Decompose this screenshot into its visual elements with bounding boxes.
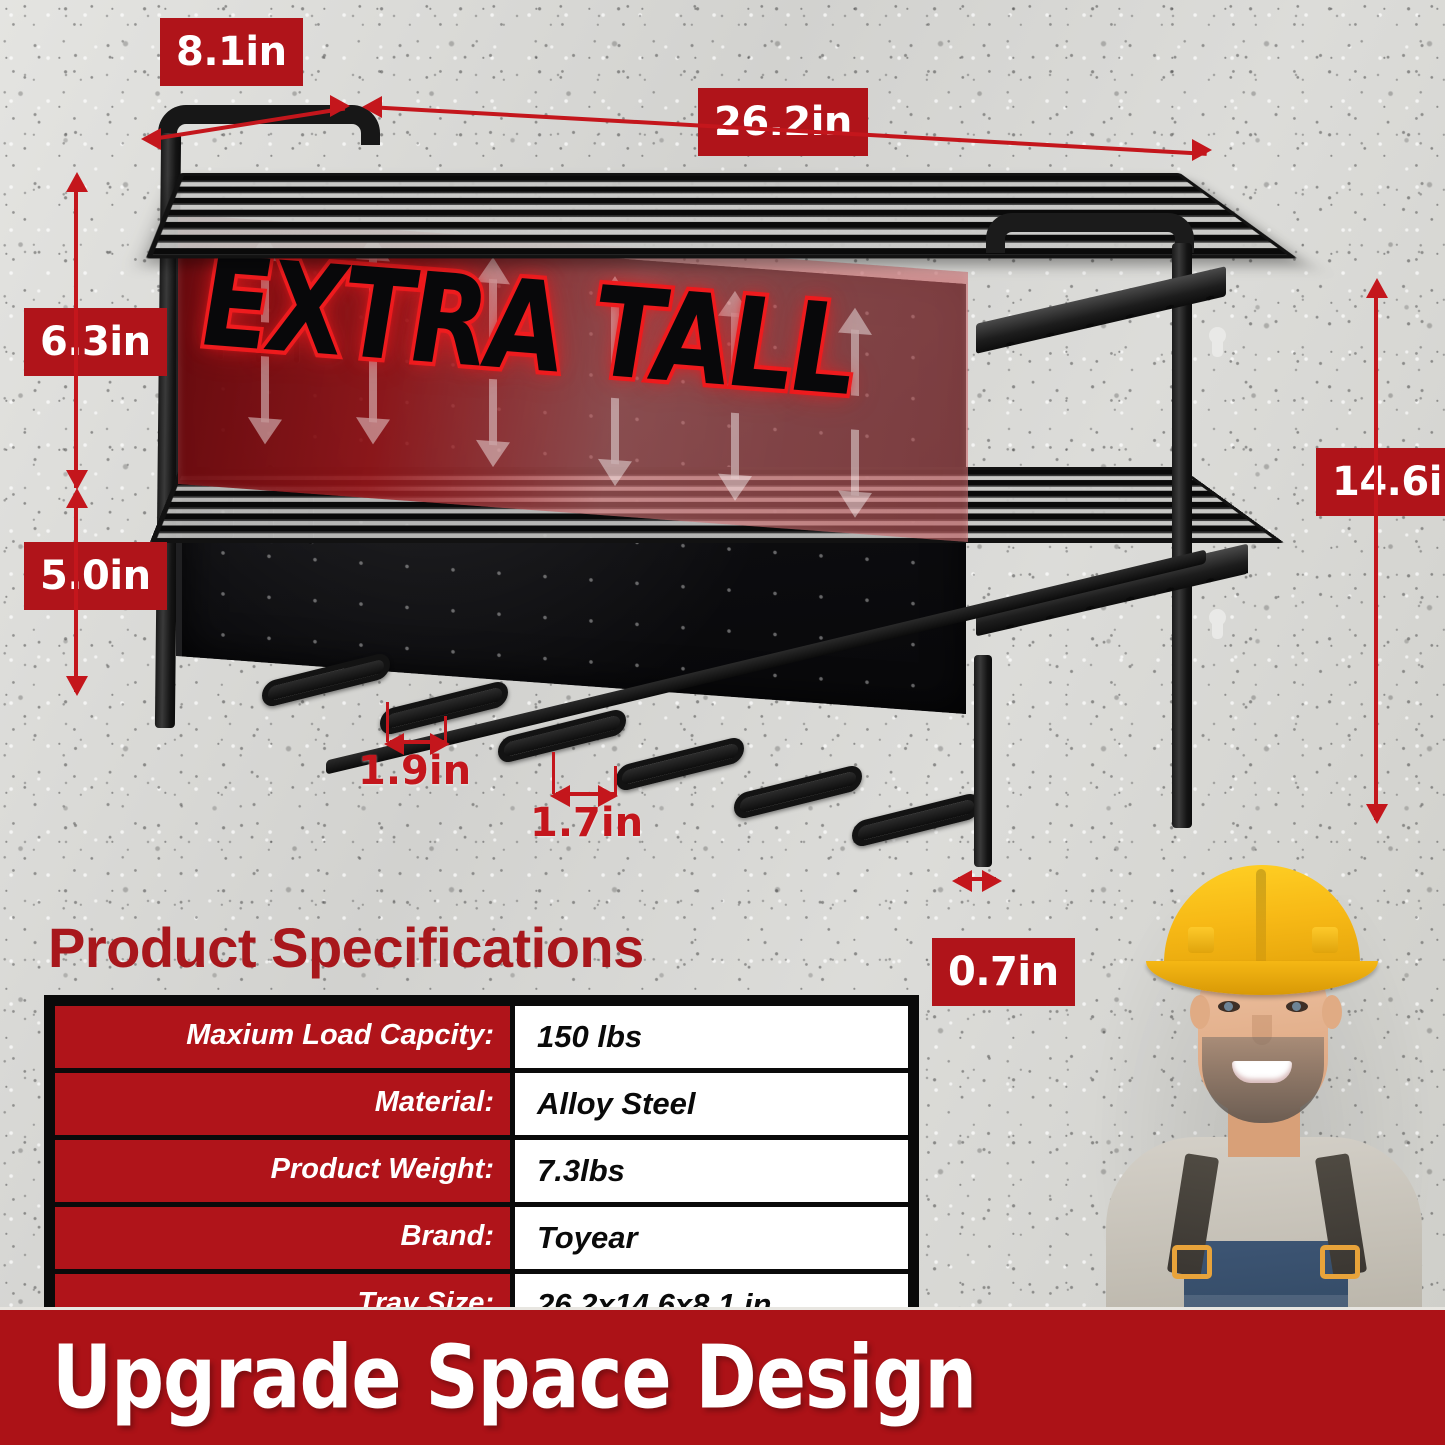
spec-value: Toyear [515, 1207, 908, 1269]
dimension-label-bar-thickness: 0.7in [932, 938, 1075, 1006]
lower-mounting-bracket [976, 544, 1248, 637]
dimension-label-slot-width: 1.9in [358, 748, 471, 794]
tool-rack-illustration: EXTRA TALL [150, 95, 1260, 885]
table-row: Maxium Load Capcity: 150 lbs [55, 1006, 908, 1068]
spec-value: Alloy Steel [515, 1073, 908, 1135]
lower-keyhole-slot [1212, 613, 1223, 639]
arrowhead-left [362, 96, 382, 118]
dimension-label-slot-gap: 1.7in [530, 800, 643, 846]
arrowhead-left [384, 733, 404, 755]
drill-slot [852, 791, 980, 849]
arrowhead-right [982, 870, 1002, 892]
drill-slot [616, 735, 744, 793]
arrowhead-down [1366, 804, 1388, 824]
arrowhead-left [141, 128, 161, 150]
spec-key: Brand: [55, 1207, 510, 1269]
drill-slot [734, 763, 862, 821]
spec-value: 7.3lbs [515, 1140, 908, 1202]
spec-key: Material: [55, 1073, 510, 1135]
worker-ear-right [1322, 995, 1342, 1029]
table-row: Material: Alloy Steel [55, 1073, 908, 1135]
dimension-label-lower-height: 5.0in [24, 542, 167, 610]
spec-key: Maxium Load Capcity: [55, 1006, 510, 1068]
upper-keyhole-slot [1212, 331, 1223, 357]
dimension-line-lower-height [74, 496, 78, 692]
table-row: Product Weight: 7.3lbs [55, 1140, 908, 1202]
hard-hat-clip-left [1188, 927, 1214, 953]
dimension-line-total-height [1374, 290, 1378, 820]
hard-hat-clip-right [1312, 927, 1338, 953]
table-row: Brand: Toyear [55, 1207, 908, 1269]
arrowhead-up [66, 172, 88, 192]
dimension-label-total-height: 14.6in [1316, 448, 1445, 516]
arrowhead-left [550, 785, 570, 807]
arrowhead-right [1192, 139, 1212, 161]
banner-headline: Upgrade Space Design [52, 1327, 976, 1428]
infographic-canvas: EXTRA TALL 8.1in 26.2in 6.3in [0, 0, 1445, 1445]
arrowhead-right [330, 95, 350, 117]
worker-eye-left [1218, 1001, 1240, 1012]
worker-eye-right [1286, 1001, 1308, 1012]
worker-smile [1232, 1061, 1292, 1083]
arrowhead-up [1366, 278, 1388, 298]
bottom-banner: Upgrade Space Design [0, 1307, 1445, 1445]
worker-buckle-left [1172, 1245, 1212, 1279]
spec-key: Product Weight: [55, 1140, 510, 1202]
spec-section-title: Product Specifications [48, 915, 644, 980]
worker-ear-left [1190, 995, 1210, 1029]
arrowhead-up [66, 488, 88, 508]
arrowhead-down [66, 470, 88, 490]
rack-right-upright [1172, 243, 1192, 828]
rack-right-handle [986, 213, 1194, 253]
worker-buckle-right [1320, 1245, 1360, 1279]
dimension-line-upper-height [74, 188, 78, 488]
dimension-label-upper-height: 6.3in [24, 308, 167, 376]
rack-front-leg [974, 655, 992, 867]
arrowhead-right [430, 733, 450, 755]
arrowhead-left [952, 870, 972, 892]
arrowhead-right [598, 785, 618, 807]
hard-hat-ridge [1256, 869, 1266, 969]
spec-value: 150 lbs [515, 1006, 908, 1068]
dimension-label-depth: 8.1in [160, 18, 303, 86]
dimension-label-width: 26.2in [698, 88, 868, 156]
arrowhead-down [66, 676, 88, 696]
specifications-table: Maxium Load Capcity: 150 lbs Material: A… [44, 995, 919, 1347]
